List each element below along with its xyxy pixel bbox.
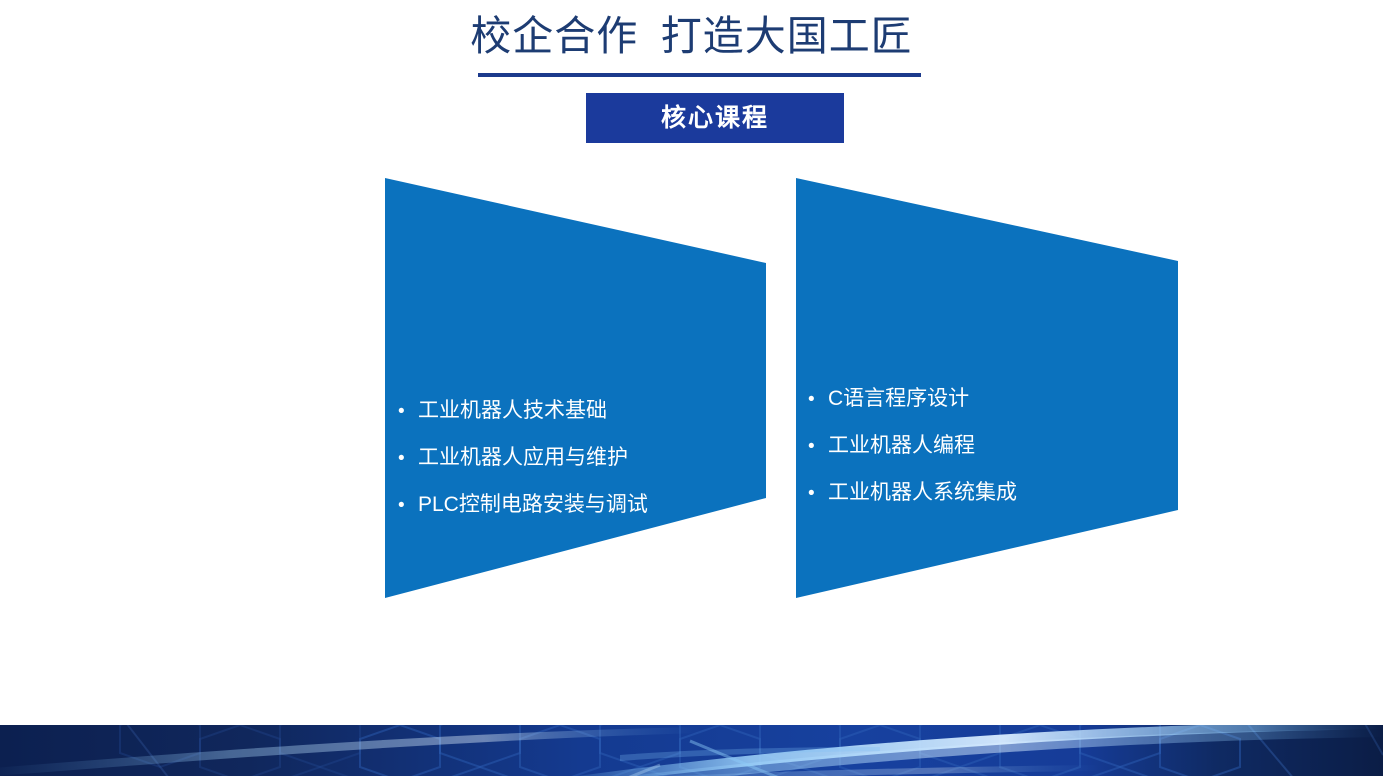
right-course-list: • C语言程序设计 • 工业机器人编程 • 工业机器人系统集成 xyxy=(808,376,1158,517)
course-label: 工业机器人编程 xyxy=(828,423,975,469)
bullet-icon: • xyxy=(808,377,828,423)
bullet-icon: • xyxy=(808,471,828,517)
title-underline-rule xyxy=(478,73,921,77)
course-label: C语言程序设计 xyxy=(828,376,969,422)
bullet-icon: • xyxy=(398,436,418,482)
list-item: • 工业机器人系统集成 xyxy=(808,470,1158,517)
slide-canvas: 校企合作 打造大国工匠 核心课程 • 工业机器人技术基础 • 工业机器人应用与维… xyxy=(0,0,1383,776)
bottom-decorative-band xyxy=(0,725,1383,776)
band-graphic xyxy=(0,725,1383,776)
list-item: • PLC控制电路安装与调试 xyxy=(398,482,748,529)
bullet-icon: • xyxy=(808,424,828,470)
bullet-icon: • xyxy=(398,483,418,529)
course-label: 工业机器人应用与维护 xyxy=(418,435,628,481)
course-label: PLC控制电路安装与调试 xyxy=(418,482,648,528)
list-item: • C语言程序设计 xyxy=(808,376,1158,423)
title-block: 校企合作 打造大国工匠 xyxy=(0,8,1383,64)
section-banner: 核心课程 xyxy=(586,93,844,143)
course-label: 工业机器人系统集成 xyxy=(828,470,1017,516)
bullet-icon: • xyxy=(398,389,418,435)
list-item: • 工业机器人应用与维护 xyxy=(398,435,748,482)
left-course-list: • 工业机器人技术基础 • 工业机器人应用与维护 • PLC控制电路安装与调试 xyxy=(398,388,748,529)
section-banner-label: 核心课程 xyxy=(661,106,769,131)
page-title: 校企合作 打造大国工匠 xyxy=(0,8,1383,64)
list-item: • 工业机器人技术基础 xyxy=(398,388,748,435)
course-label: 工业机器人技术基础 xyxy=(418,388,607,434)
list-item: • 工业机器人编程 xyxy=(808,423,1158,470)
